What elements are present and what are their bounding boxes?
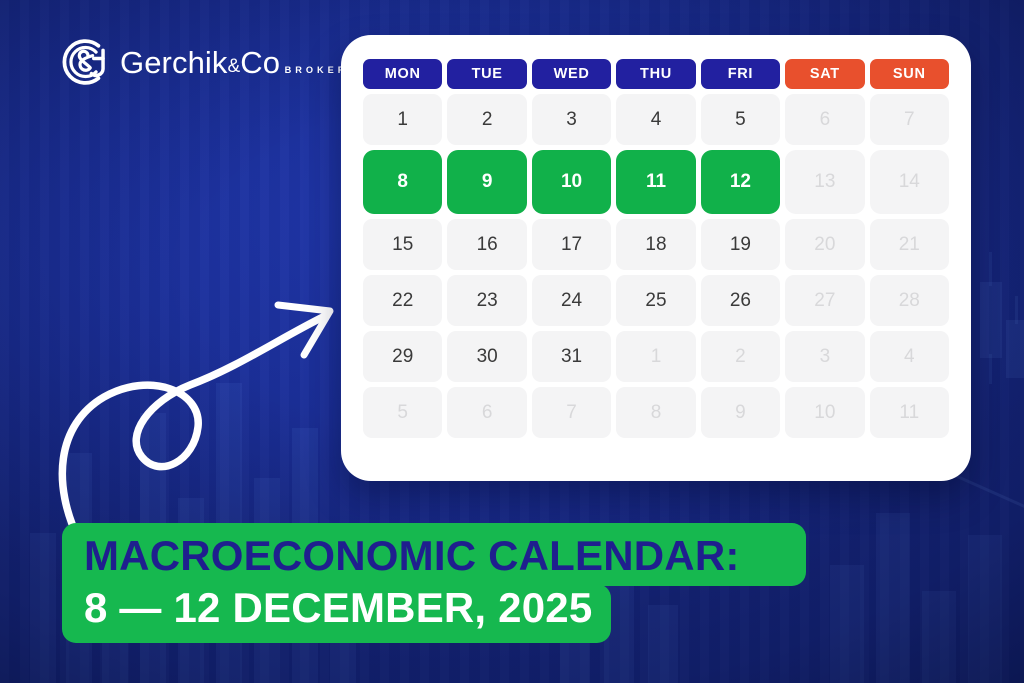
calendar-weeks: 1234567891011121314151617181920212223242… xyxy=(363,94,949,438)
title-line-2: 8 — 12 DECEMBER, 2025 xyxy=(84,586,611,630)
calendar-day-cell[interactable]: 8 xyxy=(363,150,442,214)
brand-ampersand: & xyxy=(228,56,241,77)
calendar-day-cell[interactable]: 8 xyxy=(616,387,695,438)
calendar-day-cell[interactable]: 28 xyxy=(870,275,949,326)
calendar-day-cell[interactable]: 30 xyxy=(447,331,526,382)
calendar-day-header-fri: FRI xyxy=(701,59,780,89)
calendar-day-header-tue: TUE xyxy=(447,59,526,89)
calendar-day-cell[interactable]: 13 xyxy=(785,150,864,214)
calendar-day-header-sat: SAT xyxy=(785,59,864,89)
calendar-day-cell[interactable]: 21 xyxy=(870,219,949,270)
calendar-day-cell[interactable]: 7 xyxy=(532,387,611,438)
calendar-day-cell[interactable]: 4 xyxy=(870,331,949,382)
calendar-day-cell[interactable]: 9 xyxy=(701,387,780,438)
calendar-day-cell[interactable]: 17 xyxy=(532,219,611,270)
calendar-day-header-mon: MON xyxy=(363,59,442,89)
calendar-day-cell[interactable]: 19 xyxy=(701,219,780,270)
calendar-card: MONTUEWEDTHUFRISATSUN 123456789101112131… xyxy=(341,35,971,481)
title-line-1: MACROECONOMIC CALENDAR: xyxy=(84,534,806,578)
calendar-day-cell[interactable]: 7 xyxy=(870,94,949,145)
calendar-week-row: 891011121314 xyxy=(363,150,949,214)
brand-name: Gerchik&Co xyxy=(120,45,280,80)
calendar-day-cell[interactable]: 24 xyxy=(532,275,611,326)
calendar-day-header-thu: THU xyxy=(616,59,695,89)
calendar-day-cell[interactable]: 20 xyxy=(785,219,864,270)
calendar-day-cell[interactable]: 14 xyxy=(870,150,949,214)
calendar-week-row: 22232425262728 xyxy=(363,275,949,326)
calendar-week-row: 2930311234 xyxy=(363,331,949,382)
calendar-week-row: 15161718192021 xyxy=(363,219,949,270)
calendar-day-cell[interactable]: 3 xyxy=(785,331,864,382)
calendar-day-cell[interactable]: 3 xyxy=(532,94,611,145)
calendar-day-header-sun: SUN xyxy=(870,59,949,89)
calendar-week-row: 567891011 xyxy=(363,387,949,438)
calendar-day-cell[interactable]: 12 xyxy=(701,150,780,214)
calendar-day-cell[interactable]: 5 xyxy=(701,94,780,145)
calendar-day-cell[interactable]: 18 xyxy=(616,219,695,270)
calendar-day-cell[interactable]: 4 xyxy=(616,94,695,145)
calendar-day-cell[interactable]: 16 xyxy=(447,219,526,270)
calendar-day-cell[interactable]: 9 xyxy=(447,150,526,214)
calendar-day-header-wed: WED xyxy=(532,59,611,89)
calendar-week-row: 1234567 xyxy=(363,94,949,145)
title-band-secondary: 8 — 12 DECEMBER, 2025 xyxy=(62,584,611,643)
calendar-day-cell[interactable]: 25 xyxy=(616,275,695,326)
calendar-day-cell[interactable]: 2 xyxy=(447,94,526,145)
calendar-day-cell[interactable]: 27 xyxy=(785,275,864,326)
calendar-day-headers: MONTUEWEDTHUFRISATSUN xyxy=(363,59,949,89)
calendar-day-cell[interactable]: 29 xyxy=(363,331,442,382)
calendar-day-cell[interactable]: 10 xyxy=(785,387,864,438)
calendar-day-cell[interactable]: 6 xyxy=(785,94,864,145)
title-block: MACROECONOMIC CALENDAR: 8 — 12 DECEMBER,… xyxy=(62,523,1024,643)
calendar-day-cell[interactable]: 23 xyxy=(447,275,526,326)
calendar-day-cell[interactable]: 11 xyxy=(616,150,695,214)
title-band-primary: MACROECONOMIC CALENDAR: xyxy=(62,523,806,586)
calendar-day-cell[interactable]: 15 xyxy=(363,219,442,270)
calendar-day-cell[interactable]: 2 xyxy=(701,331,780,382)
calendar-day-cell[interactable]: 1 xyxy=(616,331,695,382)
calendar-day-cell[interactable]: 5 xyxy=(363,387,442,438)
calendar-day-cell[interactable]: 31 xyxy=(532,331,611,382)
calendar-day-cell[interactable]: 11 xyxy=(870,387,949,438)
poster-canvas: Gerchik&Co BROKERAGE SERVICES MONTUEWEDT… xyxy=(0,0,1024,683)
calendar-day-cell[interactable]: 22 xyxy=(363,275,442,326)
gerchik-monogram-icon xyxy=(52,33,110,91)
calendar-day-cell[interactable]: 1 xyxy=(363,94,442,145)
calendar-day-cell[interactable]: 6 xyxy=(447,387,526,438)
calendar-day-cell[interactable]: 26 xyxy=(701,275,780,326)
calendar-day-cell[interactable]: 10 xyxy=(532,150,611,214)
